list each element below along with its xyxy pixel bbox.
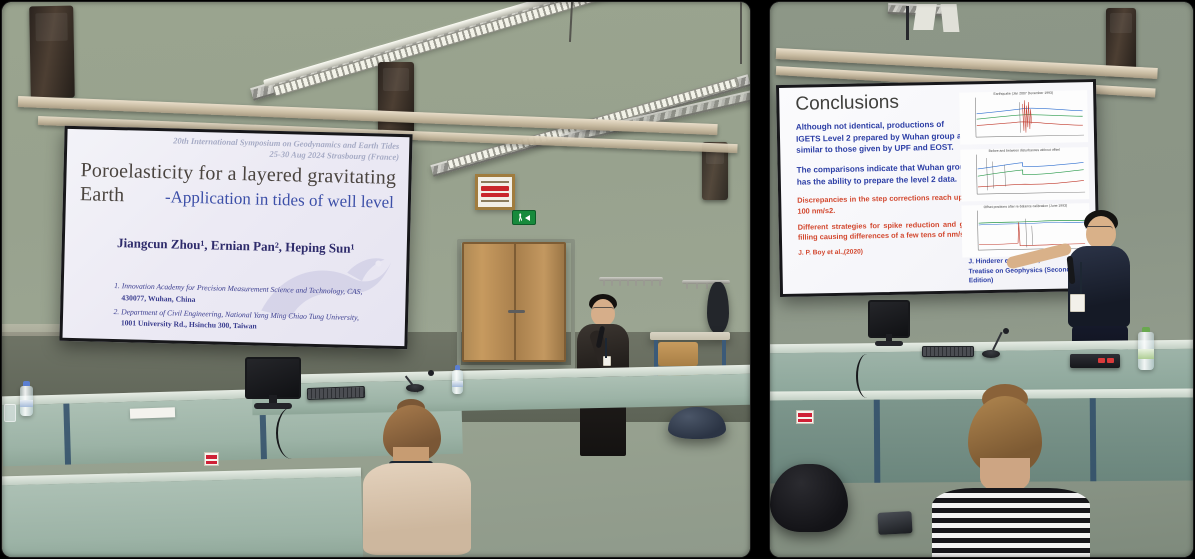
glasses-icon (1085, 226, 1113, 233)
desktop-monitor-right[interactable] (868, 300, 910, 346)
drinking-glass (4, 404, 16, 422)
truss-panel-a (913, 4, 937, 30)
audio-control-panel[interactable] (1070, 354, 1120, 368)
right-photo: Conclusions Although not identical, prod… (770, 2, 1193, 557)
desk-microphone-right (992, 328, 1018, 350)
left-photo: 20th International Symposium on Geodynam… (2, 2, 750, 557)
coat-hook-rail-1 (599, 277, 663, 281)
projection-screen-right: Conclusions Although not identical, prod… (776, 79, 1100, 297)
backpack (770, 464, 848, 532)
wall-speaker-left (29, 6, 75, 99)
glasses-icon (592, 307, 614, 313)
running-man-icon (519, 213, 523, 222)
hanging-coat (707, 282, 729, 334)
arrow-right-icon (525, 215, 530, 221)
side-table (650, 332, 730, 340)
left-seated-attendee (357, 397, 477, 557)
name-badge (1070, 294, 1085, 312)
screen-frame (59, 126, 412, 349)
lecture-desk-front (2, 468, 363, 557)
microphone-base-right (982, 350, 1000, 358)
right-presenter (1060, 210, 1145, 360)
cable-right (856, 354, 878, 398)
truss-hanger-2 (740, 2, 742, 64)
wall-speaker-right-photo (1106, 8, 1136, 74)
wooden-double-door[interactable] (462, 242, 566, 362)
screen-frame-right (776, 79, 1100, 297)
water-bottle-right (1138, 332, 1154, 370)
smartphone[interactable] (877, 511, 912, 535)
desk-label-sticker-right (796, 410, 814, 424)
wall-speaker-center (378, 62, 414, 138)
right-seated-attendee (920, 384, 1095, 557)
wall-poster-sign (475, 174, 515, 210)
desktop-monitor[interactable] (245, 357, 301, 409)
microphone-base (406, 384, 424, 392)
projection-screen-left: 20th International Symposium on Geodynam… (59, 126, 412, 349)
emergency-exit-sign (512, 210, 536, 225)
water-bottle-left (20, 386, 33, 416)
keyboard-right[interactable] (922, 346, 974, 357)
desk-label-sticker (204, 452, 219, 466)
truss-panel-b (941, 4, 960, 32)
monitor-cable (276, 407, 308, 459)
water-bottle-desk (452, 370, 463, 394)
truss-drop-cable (906, 6, 909, 40)
paper-sheet (130, 407, 175, 419)
photo-pair-stage: 20th International Symposium on Geodynam… (0, 0, 1195, 559)
